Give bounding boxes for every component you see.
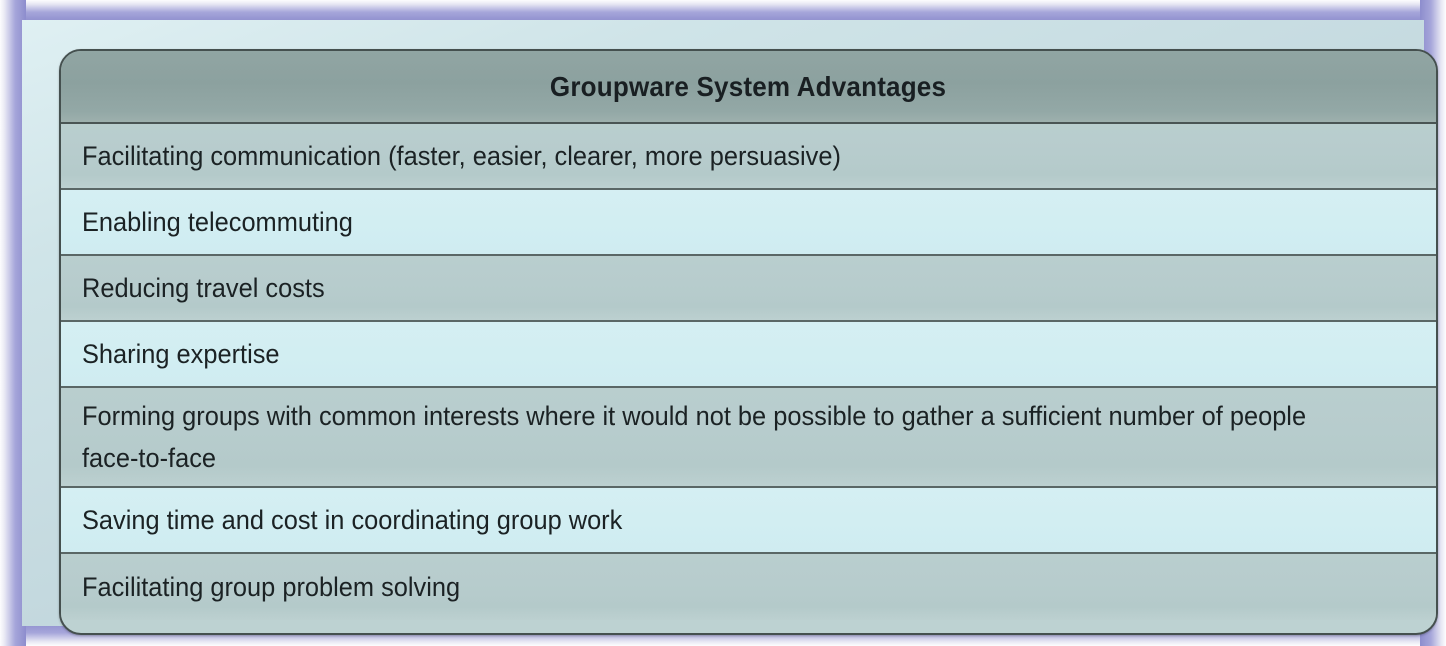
table-row-text: Saving time and cost in coordinating gro…: [82, 499, 1338, 541]
content-panel: Groupware System Advantages Facilitating…: [22, 20, 1424, 626]
table-row: Reducing travel costs: [61, 256, 1436, 322]
table-row: Facilitating group problem solving: [61, 554, 1436, 620]
decorative-border-top: [0, 0, 1446, 22]
advantages-table: Groupware System Advantages Facilitating…: [59, 49, 1438, 635]
table-row-text: Forming groups with common interests whe…: [82, 395, 1338, 479]
table-row-text: Sharing expertise: [82, 333, 1338, 375]
table-row: Saving time and cost in coordinating gro…: [61, 488, 1436, 554]
table-row: Forming groups with common interests whe…: [61, 388, 1436, 488]
table-title: Groupware System Advantages: [550, 71, 946, 103]
table-row-text: Enabling telecommuting: [82, 201, 1338, 243]
table-row-text: Facilitating group problem solving: [82, 566, 1338, 608]
table-row-text: Facilitating communication (faster, easi…: [82, 135, 1338, 177]
slide-frame: Groupware System Advantages Facilitating…: [0, 0, 1446, 646]
table-header: Groupware System Advantages: [61, 51, 1436, 124]
table-row: Enabling telecommuting: [61, 190, 1436, 256]
table-row: Sharing expertise: [61, 322, 1436, 388]
table-row-text: Reducing travel costs: [82, 267, 1338, 309]
table-row: Facilitating communication (faster, easi…: [61, 124, 1436, 190]
